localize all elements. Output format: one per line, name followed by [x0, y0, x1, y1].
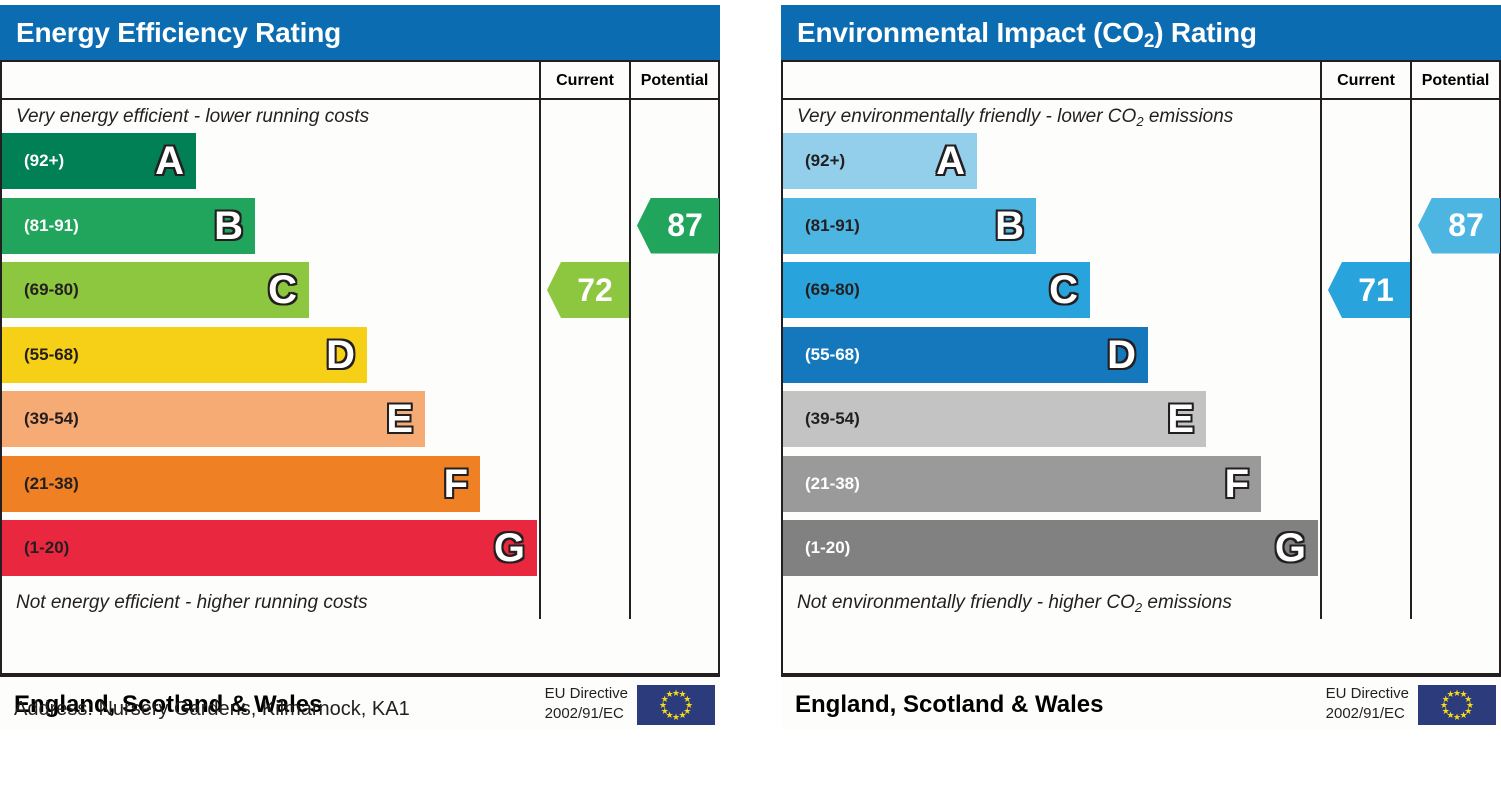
co2-band-e-range: (39-54)	[805, 409, 860, 429]
co2-band-g-range: (1-20)	[805, 538, 850, 558]
co2-band-d-letter: D	[1107, 335, 1136, 375]
epc-charts-page: Energy Efficiency Rating Current Potenti…	[0, 0, 1501, 805]
co2-band-f-letter: F	[1225, 464, 1249, 504]
energy-band-c-letter: C	[268, 270, 297, 310]
energy-efficiency-chart: Energy Efficiency Rating Current Potenti…	[0, 5, 720, 675]
energy-column-headers: Current Potential	[2, 62, 718, 100]
energy-band-e-letter: E	[386, 399, 413, 439]
energy-band-b-letter: B	[214, 206, 243, 246]
co2-caption-bottom-prefix: Not environmentally friendly - higher CO	[797, 592, 1135, 613]
co2-chart-title-sub: 2	[1144, 31, 1154, 52]
energy-caption-bottom: Not energy efficient - higher running co…	[2, 586, 539, 619]
co2-caption-top-sub: 2	[1136, 114, 1143, 129]
co2-band-d: (55-68)D	[783, 327, 1148, 383]
eu-flag-star: ★	[665, 690, 674, 699]
energy-directive-line-1: EU Directive	[545, 684, 628, 704]
property-address: Address: Nursery Gardens, Kilmarnock, KA…	[14, 698, 410, 721]
co2-caption-top-suffix: emissions	[1144, 106, 1234, 127]
energy-current-header: Current	[539, 62, 629, 98]
energy-band-a-range: (92+)	[24, 151, 64, 171]
co2-bands: (92+)A(81-91)B(69-80)C(55-68)D(39-54)E(2…	[783, 133, 1320, 586]
co2-potential-badge: 87	[1418, 198, 1500, 254]
co2-band-a-letter: A	[936, 141, 965, 181]
energy-current-badge: 72	[547, 262, 629, 318]
energy-band-g: (1-20)G	[2, 520, 537, 576]
energy-directive-line-2: 2002/91/EC	[545, 704, 628, 724]
co2-footer-region: England, Scotland & Wales	[795, 677, 1103, 732]
co2-band-a-range: (92+)	[805, 151, 845, 171]
energy-band-a-letter: A	[155, 141, 184, 181]
energy-band-f: (21-38)F	[2, 456, 480, 512]
co2-band-e: (39-54)E	[783, 391, 1206, 447]
co2-band-c-range: (69-80)	[805, 280, 860, 300]
energy-band-g-range: (1-20)	[24, 538, 69, 558]
co2-chart-body: Current Potential Very environmentally f…	[781, 60, 1501, 675]
co2-column-divider-1	[1320, 100, 1322, 619]
co2-footer-directive: EU Directive 2002/91/EC	[1326, 684, 1409, 724]
co2-column-divider-2	[1410, 100, 1412, 619]
co2-chart-title: Environmental Impact (CO2) Rating	[781, 5, 1501, 60]
co2-band-a: (92+)A	[783, 133, 977, 189]
energy-chart-title: Energy Efficiency Rating	[0, 5, 720, 60]
energy-band-b-range: (81-91)	[24, 216, 79, 236]
energy-potential-badge: 87	[637, 198, 719, 254]
eu-flag-icon: ★★★★★★★★★★★★	[637, 685, 715, 725]
co2-caption-top-prefix: Very environmentally friendly - lower CO	[797, 106, 1136, 127]
energy-band-a: (92+)A	[2, 133, 196, 189]
energy-footer-directive: EU Directive 2002/91/EC	[545, 684, 628, 724]
energy-band-g-letter: G	[494, 528, 525, 568]
co2-current-header: Current	[1320, 62, 1410, 98]
energy-caption-top: Very energy efficient - lower running co…	[2, 100, 539, 133]
co2-directive-line-2: 2002/91/EC	[1326, 704, 1409, 724]
co2-band-f-range: (21-38)	[805, 474, 860, 494]
energy-chart-title-text: Energy Efficiency Rating	[16, 17, 341, 48]
co2-band-d-range: (55-68)	[805, 345, 860, 365]
energy-band-d: (55-68)D	[2, 327, 367, 383]
co2-band-b: (81-91)B	[783, 198, 1036, 254]
energy-band-f-letter: F	[444, 464, 468, 504]
energy-band-c-range: (69-80)	[24, 280, 79, 300]
co2-band-b-range: (81-91)	[805, 216, 860, 236]
energy-band-e: (39-54)E	[2, 391, 425, 447]
environmental-impact-chart: Environmental Impact (CO2) Rating Curren…	[781, 5, 1501, 675]
co2-caption-top: Very environmentally friendly - lower CO…	[783, 100, 1320, 133]
co2-band-f: (21-38)F	[783, 456, 1261, 512]
co2-column-headers: Current Potential	[783, 62, 1499, 100]
co2-band-b-letter: B	[995, 206, 1024, 246]
co2-band-e-letter: E	[1167, 399, 1194, 439]
co2-potential-header: Potential	[1410, 62, 1499, 98]
co2-band-g-letter: G	[1275, 528, 1306, 568]
co2-band-c-letter: C	[1049, 270, 1078, 310]
co2-caption-bottom-sub: 2	[1135, 600, 1142, 615]
co2-chart-footer: England, Scotland & Wales EU Directive 2…	[781, 675, 1501, 730]
energy-potential-header: Potential	[629, 62, 718, 98]
energy-column-divider-1	[539, 100, 541, 619]
energy-column-divider-2	[629, 100, 631, 619]
co2-band-g: (1-20)G	[783, 520, 1318, 576]
energy-band-c: (69-80)C	[2, 262, 309, 318]
co2-band-c: (69-80)C	[783, 262, 1090, 318]
co2-directive-line-1: EU Directive	[1326, 684, 1409, 704]
co2-chart-title-suffix: ) Rating	[1154, 17, 1257, 48]
energy-band-e-range: (39-54)	[24, 409, 79, 429]
co2-caption-bottom-suffix: emissions	[1142, 592, 1232, 613]
energy-bands: (92+)A(81-91)B(69-80)C(55-68)D(39-54)E(2…	[2, 133, 539, 586]
eu-flag-icon: ★★★★★★★★★★★★	[1418, 685, 1496, 725]
co2-current-badge: 71	[1328, 262, 1410, 318]
energy-band-f-range: (21-38)	[24, 474, 79, 494]
co2-caption-bottom: Not environmentally friendly - higher CO…	[783, 586, 1320, 619]
energy-band-d-letter: D	[326, 335, 355, 375]
energy-band-b: (81-91)B	[2, 198, 255, 254]
energy-chart-body: Current Potential Very energy efficient …	[0, 60, 720, 675]
energy-band-d-range: (55-68)	[24, 345, 79, 365]
co2-chart-title-prefix: Environmental Impact (CO	[797, 17, 1144, 48]
eu-flag-star: ★	[1446, 690, 1455, 699]
